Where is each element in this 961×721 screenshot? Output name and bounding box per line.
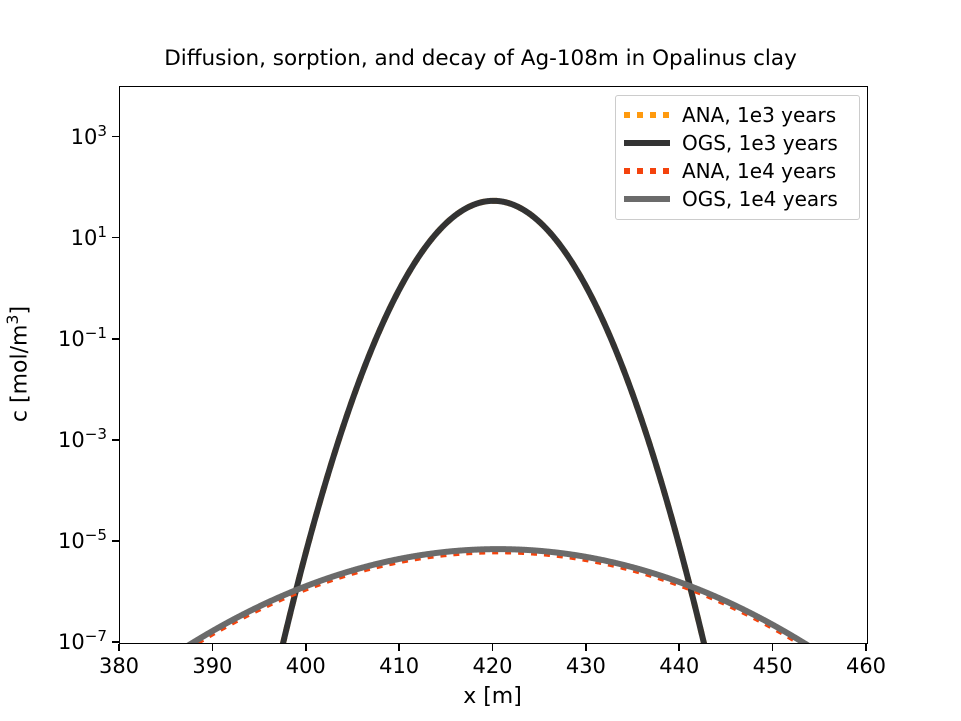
x-tick-label: 410 [379, 654, 419, 678]
y-tick-label: 10−3 [0, 428, 107, 452]
x-tick-mark [305, 644, 307, 651]
legend-item: ANA, 1e4 years [624, 157, 851, 185]
legend-item: ANA, 1e3 years [624, 101, 851, 129]
x-tick-mark [865, 644, 867, 651]
y-axis-label-container: c [mol/m3] [0, 86, 40, 642]
y-tick-label: 10−1 [0, 327, 107, 351]
y-tick-label: 10−5 [0, 529, 107, 553]
x-tick-mark [398, 644, 400, 651]
x-tick-mark [212, 644, 214, 651]
legend-swatch-ogs-1e3 [624, 136, 670, 150]
legend-label-ana-1e3: ANA, 1e3 years [682, 103, 836, 127]
y-tick-mark [112, 338, 119, 340]
x-tick-label: 390 [192, 654, 232, 678]
x-tick-label: 380 [99, 654, 139, 678]
dotted-line-sample [624, 112, 670, 118]
solid-line-sample [624, 196, 670, 202]
y-tick-mark [112, 641, 119, 643]
x-tick-label: 400 [286, 654, 326, 678]
legend-item: OGS, 1e4 years [624, 185, 851, 213]
x-tick-label: 460 [846, 654, 886, 678]
legend: ANA, 1e3 years OGS, 1e3 years ANA, 1e4 y… [615, 95, 860, 220]
legend-item: OGS, 1e3 years [624, 129, 851, 157]
y-tick-mark [112, 237, 119, 239]
x-tick-mark [118, 644, 120, 651]
page-title: Diffusion, sorption, and decay of Ag-108… [0, 46, 961, 71]
x-tick-label: 430 [566, 654, 606, 678]
legend-swatch-ana-1e4 [624, 164, 670, 178]
legend-swatch-ana-1e3 [624, 108, 670, 122]
legend-swatch-ogs-1e4 [624, 192, 670, 206]
y-tick-mark [112, 540, 119, 542]
y-axis-label: c [mol/m3] [8, 306, 33, 422]
x-tick-label: 420 [472, 654, 512, 678]
series-line [172, 549, 825, 643]
y-tick-label: 101 [0, 226, 107, 250]
matplotlib-figure: Diffusion, sorption, and decay of Ag-108… [0, 0, 961, 721]
x-tick-label: 440 [659, 654, 699, 678]
legend-label-ogs-1e3: OGS, 1e3 years [682, 131, 838, 155]
dotted-line-sample [624, 168, 670, 174]
x-tick-mark [585, 644, 587, 651]
legend-label-ana-1e4: ANA, 1e4 years [682, 159, 836, 183]
legend-label-ogs-1e4: OGS, 1e4 years [682, 187, 838, 211]
y-tick-mark [112, 439, 119, 441]
x-axis-label: x [m] [119, 684, 866, 709]
y-tick-label: 10−7 [0, 630, 107, 654]
x-tick-mark [492, 644, 494, 651]
y-axis-label-suffix: ] [8, 306, 33, 315]
y-axis-label-exponent: 3 [3, 314, 22, 324]
x-tick-mark [772, 644, 774, 651]
y-tick-label: 103 [0, 125, 107, 149]
x-tick-label: 450 [753, 654, 793, 678]
y-tick-mark [112, 136, 119, 138]
x-tick-mark [678, 644, 680, 651]
solid-line-sample [624, 140, 670, 146]
